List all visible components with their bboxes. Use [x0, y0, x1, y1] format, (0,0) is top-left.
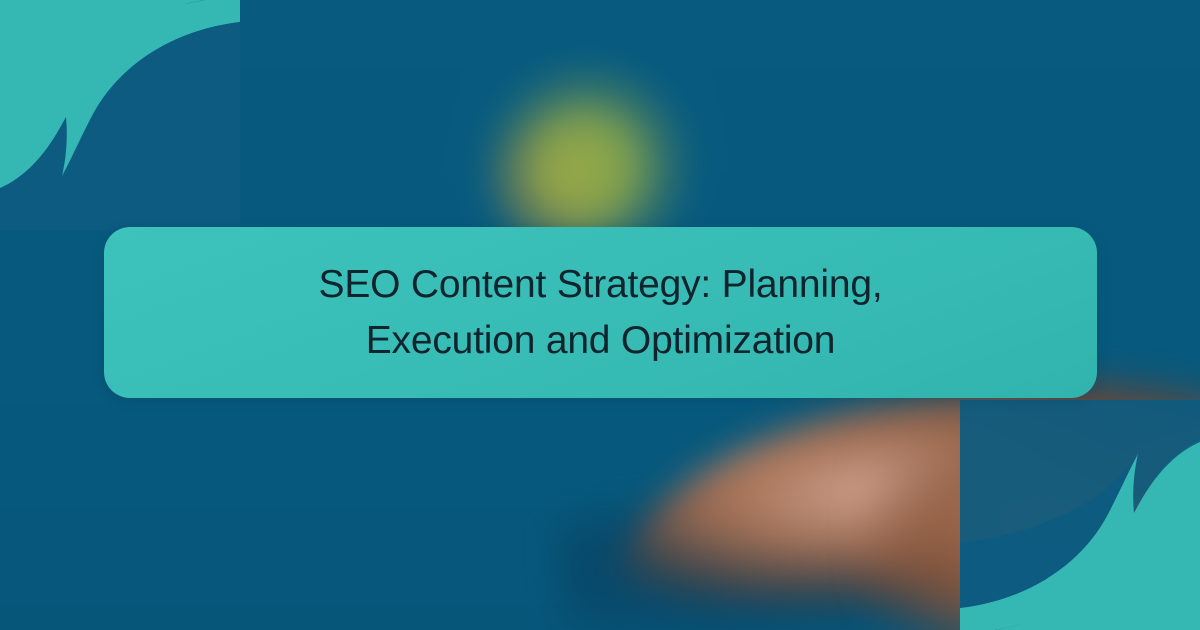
page-title: SEO Content Strategy: Planning, Executio…	[271, 257, 931, 369]
og-banner: SEO Content Strategy: Planning, Executio…	[0, 0, 1200, 630]
title-card: SEO Content Strategy: Planning, Executio…	[104, 227, 1097, 398]
blurred-forearm-shape	[870, 430, 1200, 630]
